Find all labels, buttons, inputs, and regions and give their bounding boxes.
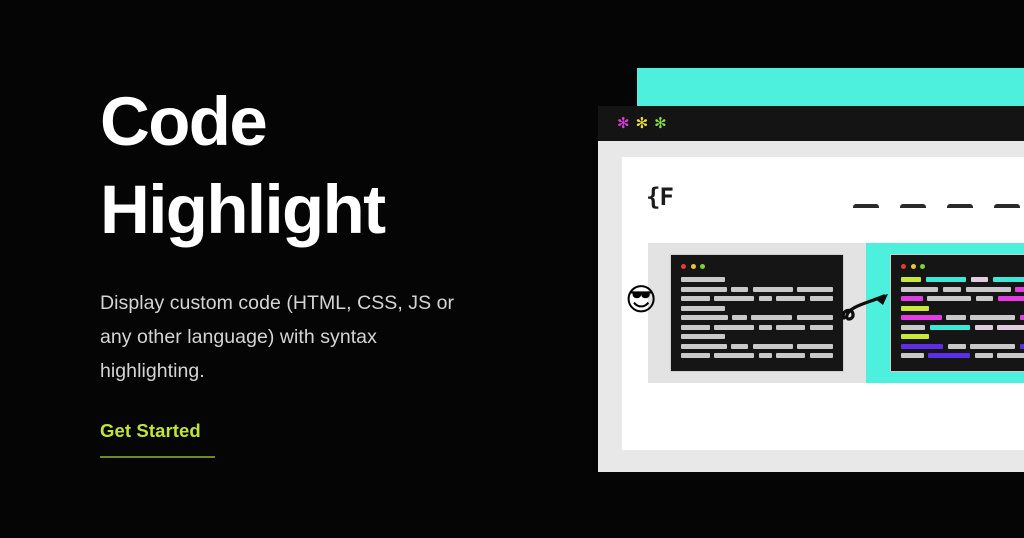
minimize-dot[interactable] [911, 264, 916, 269]
code-token [901, 296, 923, 301]
code-token [997, 325, 1024, 330]
code-token [901, 315, 942, 320]
mock-navbar [853, 204, 1020, 208]
sunglasses-emoji-icon: 😎 [625, 285, 657, 316]
code-token [976, 296, 993, 301]
code-token [943, 287, 962, 292]
asterisk-magenta-icon[interactable]: ✻ [617, 116, 630, 131]
maximize-dot[interactable] [700, 264, 705, 269]
code-token [1015, 287, 1024, 292]
code-token [732, 315, 747, 320]
minimize-dot[interactable] [691, 264, 696, 269]
code-line [681, 306, 833, 311]
code-line [681, 334, 833, 339]
accent-bar [637, 68, 1024, 106]
code-token [753, 287, 793, 292]
window-controls: ✻ ✻ ✻ [617, 116, 667, 131]
nav-item-4[interactable] [994, 204, 1020, 208]
code-token [681, 344, 727, 349]
mock-window-body: {F [598, 141, 1024, 472]
code-token [997, 353, 1024, 358]
code-token [930, 325, 971, 330]
code-token [681, 315, 728, 320]
code-token [751, 315, 792, 320]
code-line [681, 277, 833, 282]
code-line [901, 325, 1024, 330]
code-token [753, 344, 793, 349]
code-line [681, 353, 833, 358]
code-line [901, 287, 1024, 292]
code-token [681, 353, 710, 358]
code-line [681, 296, 833, 301]
asterisk-yellow-icon[interactable]: ✻ [636, 116, 649, 131]
code-line [681, 344, 833, 349]
close-dot[interactable] [901, 264, 906, 269]
code-token [776, 325, 805, 330]
brand-logo: {F [646, 183, 673, 211]
curved-arrow-icon [838, 291, 894, 331]
code-line [681, 325, 833, 330]
code-token [714, 325, 754, 330]
code-line [901, 306, 1024, 311]
code-token [998, 296, 1024, 301]
code-token [975, 353, 993, 358]
plain-traffic-lights [681, 264, 833, 269]
code-line [901, 277, 1024, 282]
code-token [759, 296, 772, 301]
code-token [901, 344, 943, 349]
code-token [975, 325, 993, 330]
code-token [948, 344, 966, 349]
code-token [797, 287, 833, 292]
code-token [681, 277, 725, 282]
code-token [901, 287, 938, 292]
code-token [759, 353, 772, 358]
code-token [714, 296, 754, 301]
asterisk-green-icon[interactable]: ✻ [654, 116, 667, 131]
mock-window-titlebar: ✻ ✻ ✻ [598, 106, 1024, 141]
code-comparison-strip [648, 243, 1024, 383]
code-token [901, 353, 924, 358]
plain-code-pane [648, 243, 866, 383]
code-token [797, 315, 833, 320]
browser-mockup-illustration: ✻ ✻ ✻ {F [0, 0, 1024, 538]
code-token [946, 315, 966, 320]
code-token [901, 325, 925, 330]
code-token [901, 306, 929, 311]
code-token [927, 296, 971, 301]
mock-page-card: {F [622, 157, 1024, 450]
nav-item-3[interactable] [947, 204, 973, 208]
code-token [681, 325, 710, 330]
code-line [681, 287, 833, 292]
code-token [681, 296, 710, 301]
code-token [971, 277, 989, 282]
code-token [993, 277, 1024, 282]
nav-item-1[interactable] [853, 204, 879, 208]
highlighted-code-window [890, 254, 1024, 372]
code-line [901, 315, 1024, 320]
code-token [928, 353, 970, 358]
code-token [681, 334, 725, 339]
code-line [901, 296, 1024, 301]
code-token [810, 353, 834, 358]
code-token [776, 296, 805, 301]
code-line [681, 315, 833, 320]
code-token [759, 325, 772, 330]
code-token [797, 344, 833, 349]
maximize-dot[interactable] [920, 264, 925, 269]
code-token [970, 344, 1015, 349]
code-token [970, 315, 1015, 320]
code-token [810, 296, 834, 301]
plain-code-window [670, 254, 844, 372]
code-token [714, 353, 754, 358]
code-token [681, 306, 725, 311]
plain-code-lines [681, 277, 833, 358]
code-token [1020, 315, 1024, 320]
nav-item-2[interactable] [900, 204, 926, 208]
code-token [776, 353, 805, 358]
code-token [731, 344, 748, 349]
code-token [1020, 344, 1024, 349]
close-dot[interactable] [681, 264, 686, 269]
highlighted-code-lines [901, 277, 1024, 358]
code-token [731, 287, 748, 292]
code-token [966, 287, 1011, 292]
code-token [901, 334, 929, 339]
code-line [901, 344, 1024, 349]
code-token [681, 287, 727, 292]
code-token [810, 325, 834, 330]
code-token [926, 277, 966, 282]
highlight-traffic-lights [901, 264, 1024, 269]
code-line [901, 353, 1024, 358]
code-line [901, 334, 1024, 339]
code-token [901, 277, 921, 282]
